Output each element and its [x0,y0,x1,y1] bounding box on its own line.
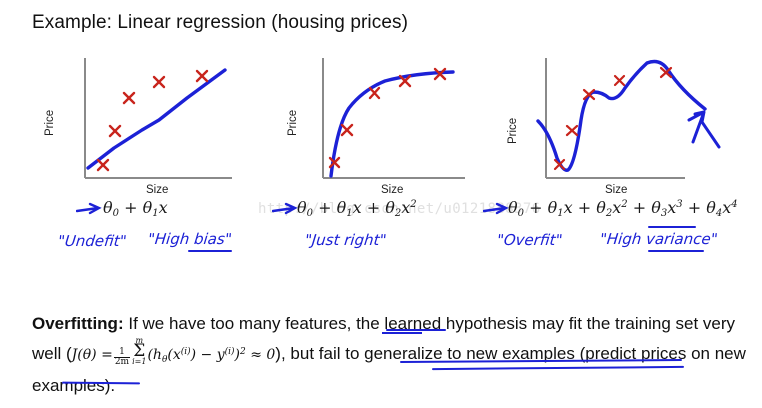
chart2-plot [285,52,515,200]
formula-minus-y: ) − y [191,347,225,363]
chart3-plot [505,52,762,200]
annotation-high-variance-overline [648,226,696,228]
annotation-high-variance: "High variance" [599,230,719,248]
body-line-1: If we have too many features, the learne… [128,314,527,333]
overfit-chart: Price Size [505,52,762,200]
annotation-just-right: "Just right" [304,231,387,249]
equation-just-right: θ0 + θ1x + θ2x2 [297,198,417,219]
annotation-underfit: "Undefit" [57,232,128,250]
chart3-data-markers [555,68,671,169]
formula-summation: mΣi=1 [132,337,146,366]
formula-body-open: (h [147,347,161,363]
overfitting-label: Overfitting: [32,314,124,333]
formula-sum-lower-limit: i=1 [132,358,146,366]
formula-fraction: 12m [114,348,130,367]
features-underline-ink [386,329,446,331]
equation-underfit: θ0 + θ1x [103,198,168,219]
formula-sum-sigma-icon: Σ [132,344,146,358]
chart2-data-markers [330,69,445,167]
formula-y-superscript: (i) [225,347,235,357]
equation-row: θ0 + θ1x θ0 + θ1x + θ2x2 θ0 + θ1x + θ2x2… [0,198,762,228]
formula-fraction-denominator: 2m [114,358,130,367]
hand-drawn-arrow-icon [689,112,719,147]
formula-j-theta: J(θ) = [72,347,113,363]
annotation-high-bias-underline [188,250,232,252]
page-title: Example: Linear regression (housing pric… [32,12,408,34]
formula-approx-zero: ≈ 0 [250,347,275,363]
formula-body-x: (x [167,347,180,363]
chart1-data-markers [98,71,207,170]
annotation-overfit: "Overfit" [496,231,563,249]
arrow-1-icon [76,202,102,216]
annotation-high-bias: "High bias" [147,230,233,248]
chart1-plot [42,52,272,200]
formula-x-superscript: (i) [181,347,191,357]
body-line-2b: ), but fail [275,344,340,363]
underfit-chart: Price Size [42,52,272,200]
cost-function-formula: J(θ) =12mmΣi=1(hθ(x(i)) − y(i))2 ≈ 0 [72,347,276,363]
j-theta-overline-ink [382,332,422,334]
annotation-high-variance-underline [648,250,704,252]
overfitting-definition-paragraph: Overfitting: If we have too many feature… [32,311,746,399]
charts-row: Price Size Price [0,52,762,200]
chart2-fit-curve [331,72,453,176]
just-right-chart: Price Size [285,52,515,200]
formula-square-exponent: 2 [240,347,246,357]
equation-overfit: θ0 + θ1x + θ2x2 + θ3x3 + θ4x4 [508,198,738,219]
slide-canvas: Example: Linear regression (housing pric… [0,0,762,408]
arrow-3-icon [483,202,509,216]
arrow-2-icon [272,202,298,216]
